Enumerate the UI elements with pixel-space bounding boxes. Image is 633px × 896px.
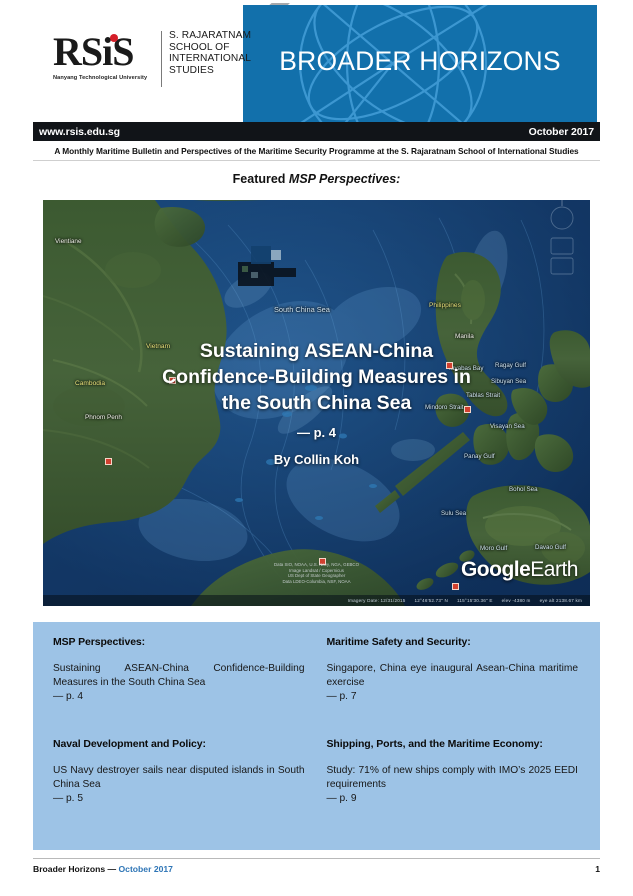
header-divider	[33, 160, 600, 161]
page-header: BROADER HORIZONS RSiS Nanyang Technologi…	[0, 0, 633, 122]
newsletter-page: BROADER HORIZONS RSiS Nanyang Technologi…	[0, 0, 633, 896]
toc-page-reference: — p. 9	[327, 792, 579, 806]
rsis-red-dot	[110, 34, 118, 42]
cover-map-image: Vientiane Vietnam Cambodia Phnom Penh So…	[43, 200, 590, 606]
logo-divider	[161, 31, 162, 87]
school-line-2: SCHOOL OF	[169, 42, 251, 54]
google-wordmark: Google	[461, 558, 530, 581]
status-longitude: 115°15'30.36" E	[457, 598, 493, 603]
status-elevation: elev -4380 m	[502, 598, 531, 603]
featured-prefix: Featured	[233, 172, 289, 186]
toc-page-reference: — p. 4	[53, 690, 305, 704]
info-bar: www.rsis.edu.sg October 2017	[33, 122, 600, 141]
featured-heading: Featured MSP Perspectives:	[0, 172, 633, 186]
toc-page-reference: — p. 5	[53, 792, 305, 806]
map-status-bar: Imagery Date: 12/31/2015 12°46'52.73" N …	[43, 595, 590, 606]
status-latitude: 12°46'52.73" N	[415, 598, 448, 603]
school-line-3: INTERNATIONAL	[169, 53, 251, 65]
table-of-contents: MSP Perspectives: Sustaining ASEAN-China…	[33, 622, 600, 850]
toc-heading: Maritime Safety and Security:	[327, 636, 579, 648]
toc-section-shipping-ports-and-the-maritime-economy[interactable]: Shipping, Ports, and the Maritime Econom…	[317, 738, 591, 840]
earth-wordmark: Earth	[530, 558, 578, 581]
toc-section-maritime-safety-and-security[interactable]: Maritime Safety and Security: Singapore,…	[317, 636, 591, 738]
cover-title-line-1: Sustaining ASEAN-China	[113, 338, 520, 364]
toc-page-reference: — p. 7	[327, 690, 579, 704]
toc-heading: Naval Development and Policy:	[53, 738, 305, 750]
banner-title: BROADER HORIZONS	[243, 5, 597, 122]
toc-article-title: Singapore, China eye inaugural Asean-Chi…	[327, 662, 579, 690]
footer-issue: October 2017	[118, 864, 172, 874]
issue-date: October 2017	[529, 126, 594, 138]
rsis-wordmark: RSiS Nanyang Technological University	[53, 32, 157, 88]
footer-page-number: 1	[595, 864, 600, 874]
featured-emphasis: MSP Perspectives:	[289, 172, 400, 186]
school-line-4: STUDIES	[169, 65, 251, 77]
map-pin-visayas	[452, 583, 459, 590]
cover-byline: By Collin Koh	[43, 452, 590, 467]
rsis-letters: RSiS	[53, 32, 134, 72]
status-imagery-date: Imagery Date: 12/31/2015	[348, 598, 406, 603]
toc-article-title: Sustaining ASEAN-China Confidence-Buildi…	[53, 662, 305, 690]
footer-publication-name: Broader Horizons —	[33, 864, 118, 874]
footer-publication: Broader Horizons — October 2017	[33, 864, 173, 874]
cover-title-line-3: the South China Sea	[113, 390, 520, 416]
school-name: S. RAJARATNAM SCHOOL OF INTERNATIONAL ST…	[169, 30, 251, 76]
footer-divider	[33, 858, 600, 859]
toc-section-msp-perspectives[interactable]: MSP Perspectives: Sustaining ASEAN-China…	[43, 636, 317, 738]
toc-article-title: US Navy destroyer sails near disputed is…	[53, 764, 305, 792]
ntu-label: Nanyang Technological University	[53, 75, 147, 81]
cover-title: Sustaining ASEAN-China Confidence-Buildi…	[43, 338, 590, 416]
school-line-1: S. RAJARATNAM	[169, 30, 251, 42]
publication-tagline: A Monthly Maritime Bulletin and Perspect…	[33, 146, 600, 156]
toc-heading: MSP Perspectives:	[53, 636, 305, 648]
toc-heading: Shipping, Ports, and the Maritime Econom…	[327, 738, 579, 750]
rsis-logo: RSiS Nanyang Technological University S.…	[53, 30, 238, 92]
google-earth-logo: GoogleEarth	[461, 558, 578, 582]
status-eye-altitude: eye alt 2138.67 km	[540, 598, 582, 603]
cover-title-line-2: Confidence-Building Measures in	[113, 364, 520, 390]
cover-page-reference: — p. 4	[43, 425, 590, 440]
header-banner: BROADER HORIZONS	[243, 5, 597, 122]
toc-section-naval-development-and-policy[interactable]: Naval Development and Policy: US Navy de…	[43, 738, 317, 840]
page-footer: Broader Horizons — October 2017 1	[33, 861, 600, 877]
toc-article-title: Study: 71% of new ships comply with IMO’…	[327, 764, 579, 792]
website-url[interactable]: www.rsis.edu.sg	[39, 126, 120, 138]
